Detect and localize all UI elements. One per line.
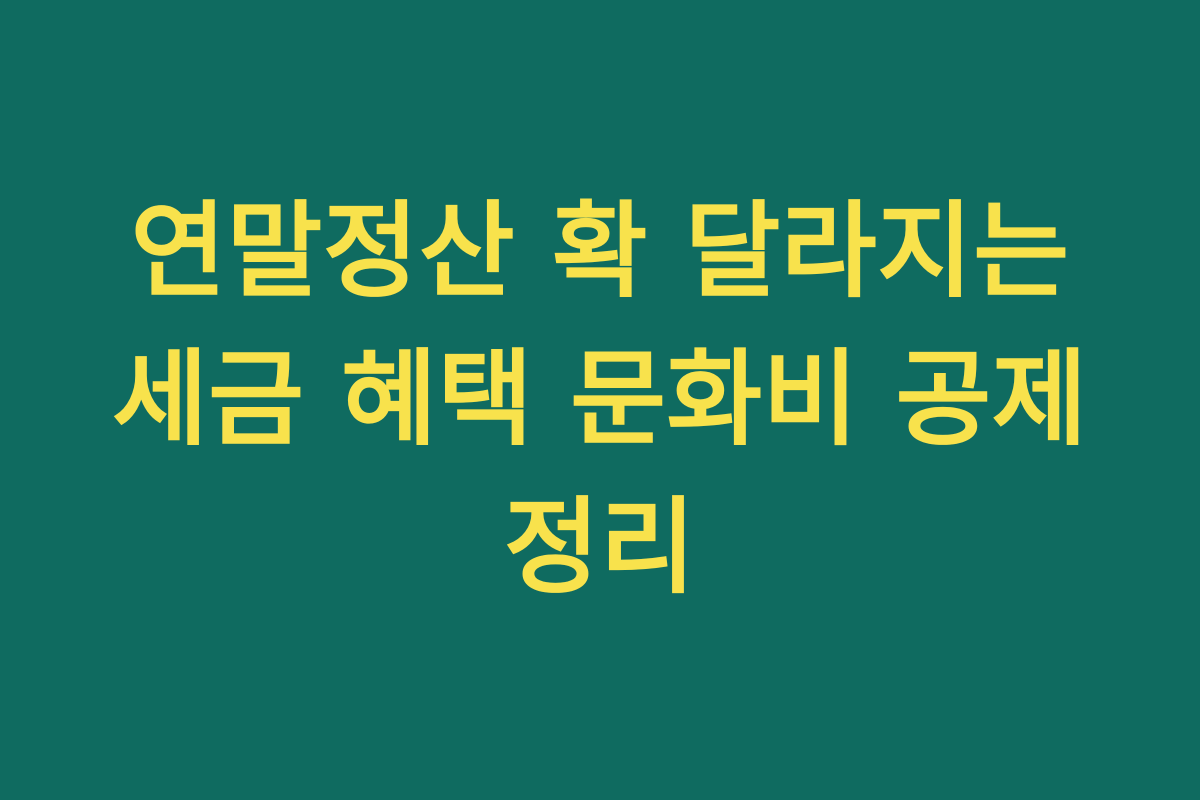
thumbnail-banner: 연말정산 확 달라지는 세금 혜택 문화비 공제 정리 [0,0,1200,800]
headline-text: 연말정산 확 달라지는 세금 혜택 문화비 공제 정리 [85,178,1115,621]
